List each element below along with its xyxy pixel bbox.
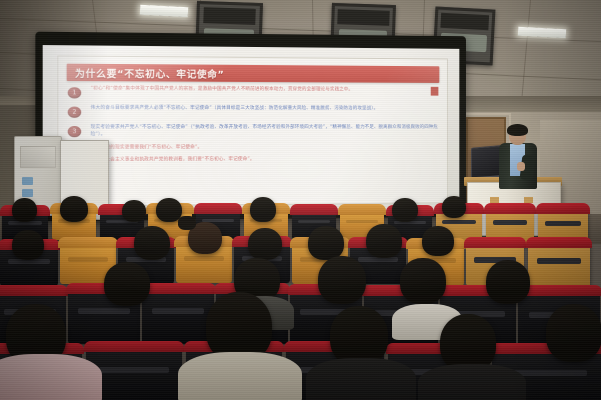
slide-title-bar: 为什么要“不忘初心、牢记使命” [67,64,440,83]
slide-point-text: “初心”和“使命”集中体现了中国共产党人的宗旨，是激励中国共产党人不断前进的根本… [91,86,439,94]
presenter-hair [507,124,528,136]
slide-point-badge: 2 [68,107,81,118]
attendee-head [366,224,402,258]
attendee-head [546,304,601,362]
slide-point: 3 现实考验要求共产党人“不忘初心、牢记使命”（“执政考验、改革开放考验、市场经… [68,125,439,140]
attendee-head [60,196,88,222]
slide-point: 1 “初心”和“使命”集中体现了中国共产党人的宗旨，是激励中国共产党人不断前进的… [68,86,439,102]
attendee-head [12,230,44,260]
audience-seating [0,196,601,400]
attendee-head [442,196,466,218]
slide-paragraph: 从世界社会主义事业和执政共产党的教训看，我们要“不忘初心、牢记使命”。 [91,156,439,164]
attendee-head [250,197,276,222]
projector-top [441,13,489,30]
seat[interactable] [142,286,214,344]
attendee-head [104,262,150,306]
presenter-figure [496,126,540,186]
slide-point: 2 伟大的奋斗目标要求共产党人必须“不忘初心、牢记使命”（具体目标是三大攻坚战：… [68,106,439,122]
attendee-shoulders [0,354,102,400]
attendee-head [392,198,418,222]
attendee-head [318,256,366,304]
slide-body: 1 “初心”和“使命”集中体现了中国共产党人的宗旨，是激励中国共产党人不断前进的… [68,86,439,140]
attendee-head [486,260,530,304]
slide-point-badge: 1 [68,87,81,98]
slide-point-text: 现实考验要求共产党人“不忘初心、牢记使命”（“执政考验、改革开放考验、市场经济考… [91,125,439,138]
seat-empty[interactable] [528,240,590,288]
attendee-head [422,226,454,256]
projector-top [203,7,256,24]
attendee-head [12,198,37,222]
attendee-shoulders [418,364,526,400]
presenter-hand [517,162,525,171]
slide-title-text: 为什么要“不忘初心、牢记使命” [67,65,225,80]
projector-top [338,9,390,26]
presentation-slide: 为什么要“不忘初心、牢记使命” 1 “初心”和“使命”集中体现了中国共产党人的宗… [57,55,448,206]
attendee-head [248,228,282,260]
ac-control-panel[interactable] [22,177,33,185]
attendee-shoulders [306,358,416,400]
attendee-head [330,306,388,366]
slide-point-text: 伟大的奋斗目标要求共产党人必须“不忘初心、牢记使命”（具体目标是三大攻坚战：防范… [91,106,439,113]
attendee-head [134,226,170,260]
attendee-hair [178,216,196,230]
slide-point-badge: 3 [68,126,81,137]
attendee-head [400,258,446,304]
slide-paragraph: 党内严峻的现实更需要我们“不忘初心、牢记使命”。 [91,145,439,153]
ac-vent [20,146,56,168]
lecture-hall-photo: 为什么要“不忘初心、牢记使命” 1 “初心”和“使命”集中体现了中国共产党人的宗… [0,0,601,400]
attendee-shoulders [178,352,302,400]
attendee-head [122,200,146,222]
attendee-head [308,226,344,260]
